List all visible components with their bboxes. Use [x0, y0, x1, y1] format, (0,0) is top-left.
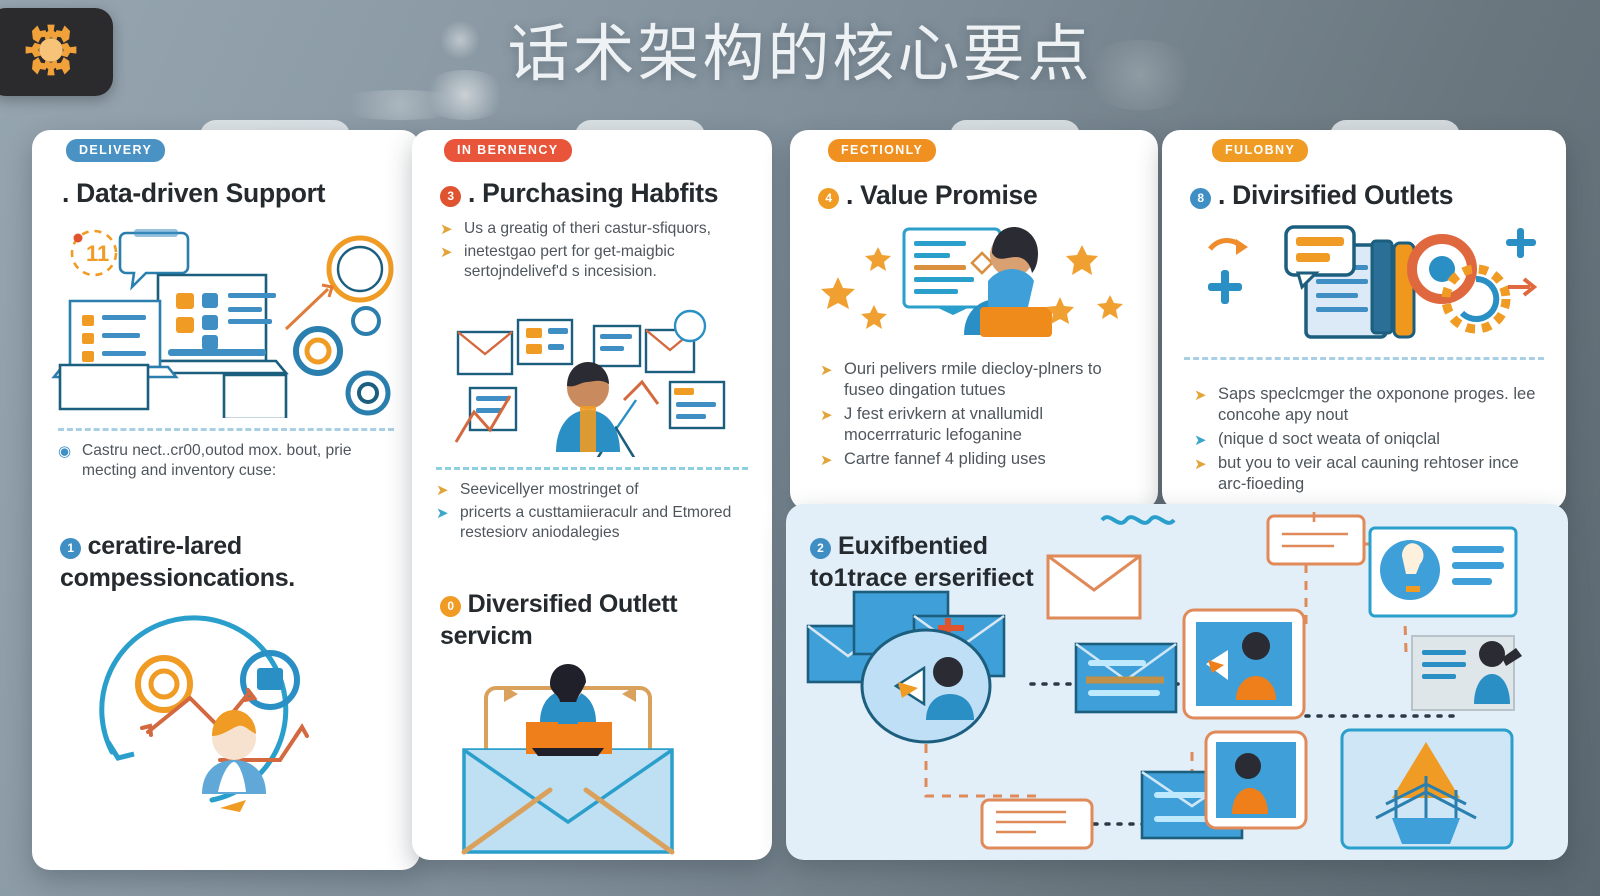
card-badge: IN BERNENCY: [444, 139, 572, 162]
gold-arrow-icon: ➤: [1194, 454, 1209, 496]
card-bullet-list: ➤ Us a greatig of theri castur-sfiquors,…: [440, 219, 750, 282]
card-board: DELIVERY . Data-driven Support: [0, 112, 1600, 872]
svg-text:11: 11: [86, 241, 109, 266]
card-title: 3 . Purchasing Habfits: [440, 178, 750, 209]
card-value-promise[interactable]: FECTIONLY 4 . Value Promise: [790, 130, 1158, 510]
list-item: ➤ Us a greatig of theri castur-sfiquors,: [440, 219, 750, 239]
page-title: 话术架构的核心要点: [0, 8, 1600, 100]
card-bullet-list: ➤ Ouri pelivers rmile diecloy-plners to …: [820, 359, 1136, 470]
card-diversified-outlets[interactable]: FULOBNY 8 . Divirsified Outlets: [1162, 130, 1566, 510]
list-item: ➤ (nique d soct weata of oniqclal: [1194, 429, 1546, 450]
sub-number-badge: 0: [440, 596, 461, 617]
documents-pencil-piechart-illustration: [1186, 217, 1542, 347]
email-flow-network-diagram: [786, 504, 1568, 860]
card-bullet-list-2: ➤ Seevicellyer mostringet of ➤ pricerts …: [436, 480, 748, 543]
dashed-separator: [1184, 357, 1544, 360]
list-item: ➤ Saps speclcmger the oxponone proges. l…: [1194, 384, 1546, 426]
card-number-badge: 8: [1190, 188, 1211, 209]
list-item: ➤ inetestgao pert for get-maigbic sertoj…: [440, 242, 750, 282]
cyan-arrow-icon: ➤: [1194, 430, 1209, 451]
sub-number-badge: 1: [60, 538, 81, 559]
list-item: ➤ but you to veir acal cauning rehtoser …: [1194, 453, 1546, 495]
card-number-badge: 3: [440, 186, 461, 207]
card-bullet-list: ◉ Castru nect..cr00,outod mox. bout, pri…: [58, 441, 394, 481]
list-item: ➤ Seevicellyer mostringet of: [436, 480, 748, 500]
laptops-clipboard-gears-illustration: 11: [48, 223, 404, 418]
card-badge: FECTIONLY: [828, 139, 936, 162]
cycle-gears-person-illustration: [52, 602, 400, 817]
card-purchasing-habits[interactable]: IN BERNENCY 3 . Purchasing Habfits ➤ Us …: [412, 130, 772, 860]
person-charts-envelopes-illustration: [434, 292, 750, 457]
dashed-separator: [436, 467, 748, 470]
card-title: . Data-driven Support: [62, 178, 392, 209]
cyan-arrow-icon: ➤: [436, 504, 451, 544]
gold-arrow-icon: ➤: [820, 360, 835, 402]
panel-email-flow[interactable]: 2 Euxifbentied to1trace erserifiect: [786, 504, 1568, 860]
list-item: ➤ pricerts a custtamiieraculr and Etmore…: [436, 503, 748, 543]
gold-arrow-icon: ➤: [440, 220, 455, 240]
gold-arrow-icon: ➤: [820, 450, 835, 471]
person-screen-stars-illustration: [816, 219, 1132, 337]
card-bullet-list: ➤ Saps speclcmger the oxponone proges. l…: [1194, 384, 1546, 495]
card-title: 8 . Divirsified Outlets: [1190, 180, 1542, 211]
list-item: ➤ Cartre fannef 4 pliding uses: [820, 449, 1136, 470]
gold-arrow-icon: ➤: [440, 243, 455, 283]
card-sub-title: 0 Diversified Outlett servicm: [440, 588, 748, 652]
card-badge: FULOBNY: [1212, 139, 1308, 162]
card-data-driven-support[interactable]: DELIVERY . Data-driven Support: [32, 130, 420, 870]
blue-dot-icon: ◉: [58, 442, 73, 482]
gold-arrow-icon: ➤: [1194, 385, 1209, 427]
list-item: ➤ Ouri pelivers rmile diecloy-plners to …: [820, 359, 1136, 401]
card-sub-title: 1 ceratire-lared compessioncations.: [60, 530, 394, 594]
dashed-separator: [58, 428, 394, 431]
card-number-badge: 4: [818, 188, 839, 209]
card-badge: DELIVERY: [66, 139, 165, 162]
card-title: 4 . Value Promise: [818, 180, 1134, 211]
gold-arrow-icon: ➤: [436, 481, 451, 501]
list-item: ◉ Castru nect..cr00,outod mox. bout, pri…: [58, 441, 394, 481]
gold-arrow-icon: ➤: [820, 405, 835, 447]
envelope-person-illustration: [440, 662, 744, 860]
list-item: ➤ J fest erivkern at vnallumidl mocerrra…: [820, 404, 1136, 446]
